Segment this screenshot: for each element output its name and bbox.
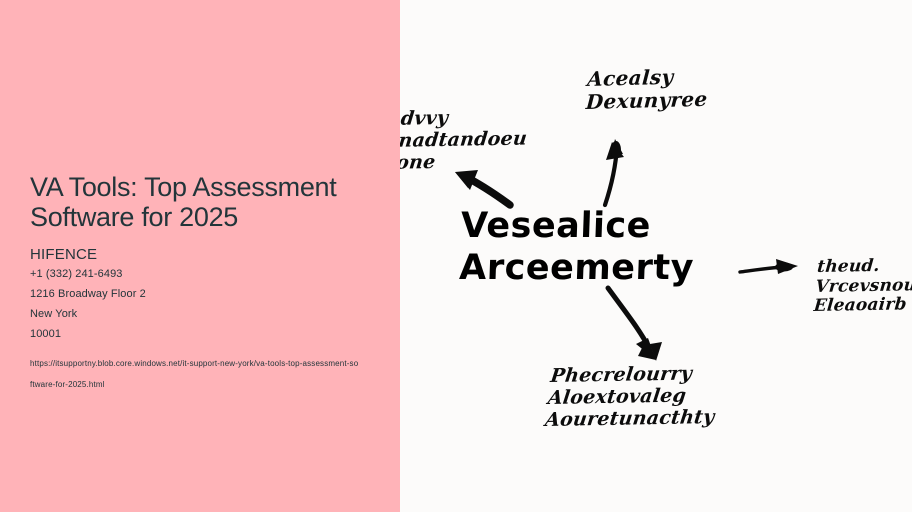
street-address: 1216 Broadway Floor 2 <box>30 284 400 304</box>
phone-number[interactable]: +1 (332) 241-6493 <box>30 264 400 284</box>
city-name: New York <box>30 304 400 324</box>
diagram-left-label: udvvy unadtandoeu uone <box>400 106 530 175</box>
diagram-center-label: Vesealice Arceemerty <box>459 205 697 289</box>
diagram-top-label: Acealsy Dexunyree <box>585 65 709 115</box>
diagram-bottom-label: Phecrelourry Aloextovaleg Aouretunacthty <box>544 362 721 431</box>
diagram-right-label: theud. Vrcevsnoue Eleaoairb <box>813 256 912 317</box>
postal-code: 10001 <box>30 324 400 344</box>
left-content-stack: VA Tools: Top Assessment Software for 20… <box>30 172 400 395</box>
arrow-up-left-icon <box>455 170 510 206</box>
arrow-up-icon <box>605 139 624 205</box>
article-url[interactable]: https://itsupportny.blob.core.windows.ne… <box>30 353 360 395</box>
arrow-right-icon <box>740 259 798 274</box>
diagram-panel: Vesealice Arceemerty Acealsy Dexunyree u… <box>400 0 912 512</box>
brand-name: HIFENCE <box>30 246 400 264</box>
arrow-down-icon <box>608 288 662 361</box>
social-card: VA Tools: Top Assessment Software for 20… <box>0 0 912 512</box>
page-title: VA Tools: Top Assessment Software for 20… <box>30 172 400 232</box>
left-info-panel: VA Tools: Top Assessment Software for 20… <box>0 0 400 512</box>
